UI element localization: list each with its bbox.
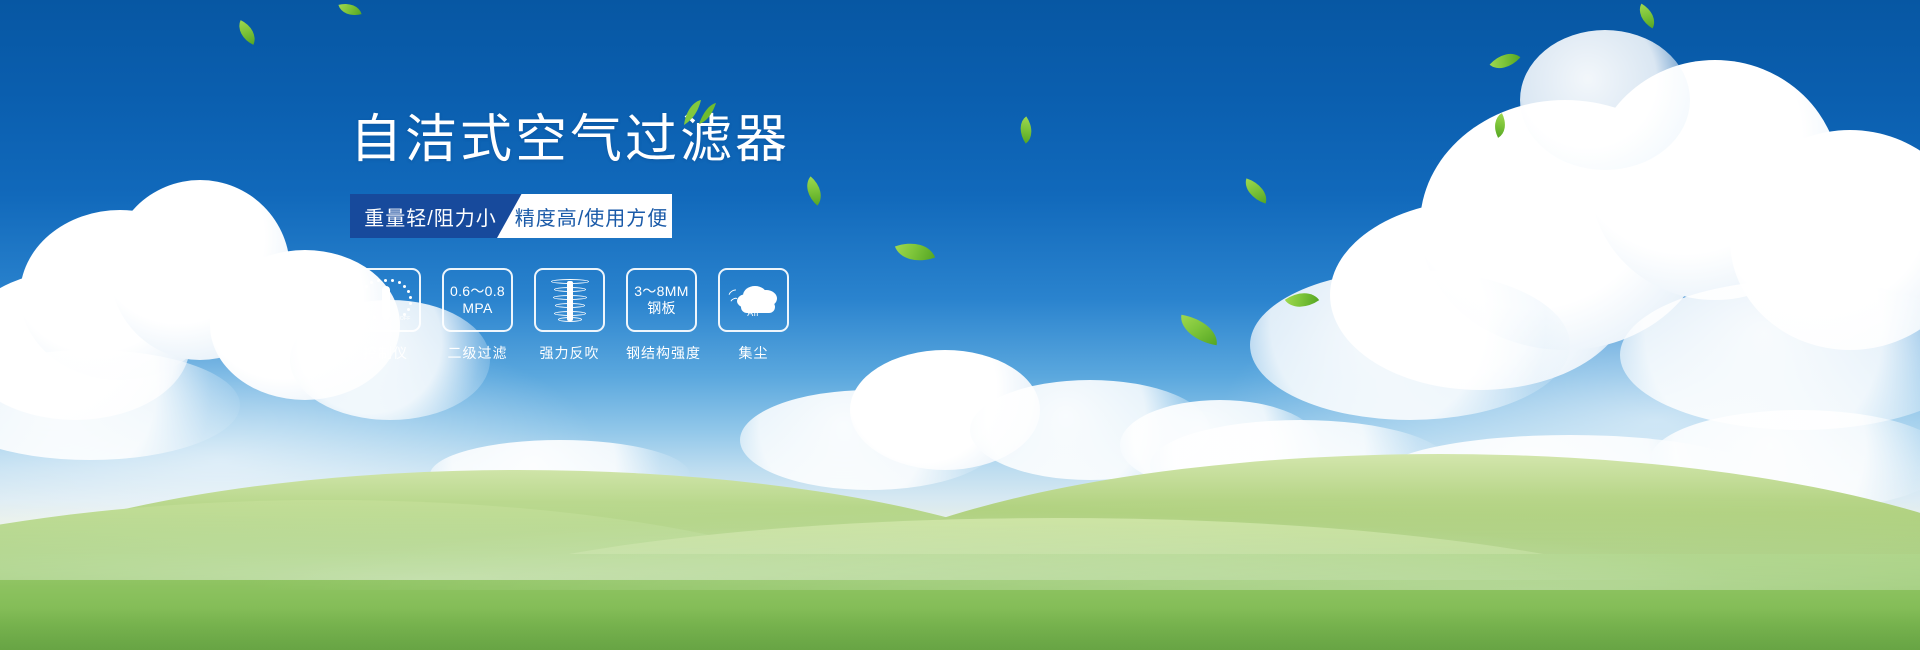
gauge-off-label: OFF <box>400 316 411 322</box>
tag-high-precision-easy-use[interactable]: 精度高/使用方便 <box>497 194 672 238</box>
feature-label: 二级过滤 <box>442 343 513 363</box>
feature-icon-row: NO OFF 控制仪 0.6～0.8 MPA 二级过滤 <box>350 268 910 363</box>
pressure-icon: 0.6～0.8 MPA <box>450 283 505 317</box>
feature-item-secondary-filter[interactable]: 0.6～0.8 MPA 二级过滤 <box>442 268 513 363</box>
product-banner: 自洁式空气过滤器 重量轻/阻力小 精度高/使用方便 <box>0 0 1920 650</box>
feature-item-steel-strength[interactable]: 3～8MM 钢板 钢结构强度 <box>626 268 697 363</box>
grass-landscape <box>0 390 1920 650</box>
feature-box: 0.6～0.8 MPA <box>442 268 513 332</box>
banner-content: 自洁式空气过滤器 重量轻/阻力小 精度高/使用方便 <box>350 108 910 363</box>
tag-lightweight-low-resistance[interactable]: 重量轻/阻力小 <box>350 194 525 238</box>
feature-label: 强力反吹 <box>534 343 605 363</box>
feature-box: 3～8MM 钢板 <box>626 268 697 332</box>
feature-box <box>534 268 605 332</box>
grass-foreground-shadow <box>0 608 1920 650</box>
grass-highlight-right <box>0 480 1920 590</box>
feature-box: Air <box>718 268 789 332</box>
page-title: 自洁式空气过滤器 <box>350 108 910 172</box>
feature-label: 钢结构强度 <box>626 343 697 363</box>
tag-label: 精度高/使用方便 <box>515 202 669 231</box>
feature-tag-group: 重量轻/阻力小 精度高/使用方便 <box>350 194 672 238</box>
title-leaf-icon <box>682 100 716 126</box>
feature-label: 控制仪 <box>350 343 421 363</box>
feature-box: NO OFF <box>350 268 421 332</box>
air-label: Air <box>747 308 760 318</box>
feature-item-controller[interactable]: NO OFF 控制仪 <box>350 268 421 363</box>
feature-item-dust-collection[interactable]: Air 集尘 <box>718 268 789 363</box>
gauge-no-label: NO <box>360 304 368 310</box>
feature-item-reverse-blow[interactable]: 强力反吹 <box>534 268 605 363</box>
coil-icon <box>550 277 590 323</box>
gauge-icon: NO OFF <box>360 277 412 323</box>
air-cloud-icon: Air <box>727 279 781 321</box>
tag-label: 重量轻/阻力小 <box>364 202 497 231</box>
feature-label: 集尘 <box>718 343 789 363</box>
steel-icon: 3～8MM 钢板 <box>634 283 688 317</box>
